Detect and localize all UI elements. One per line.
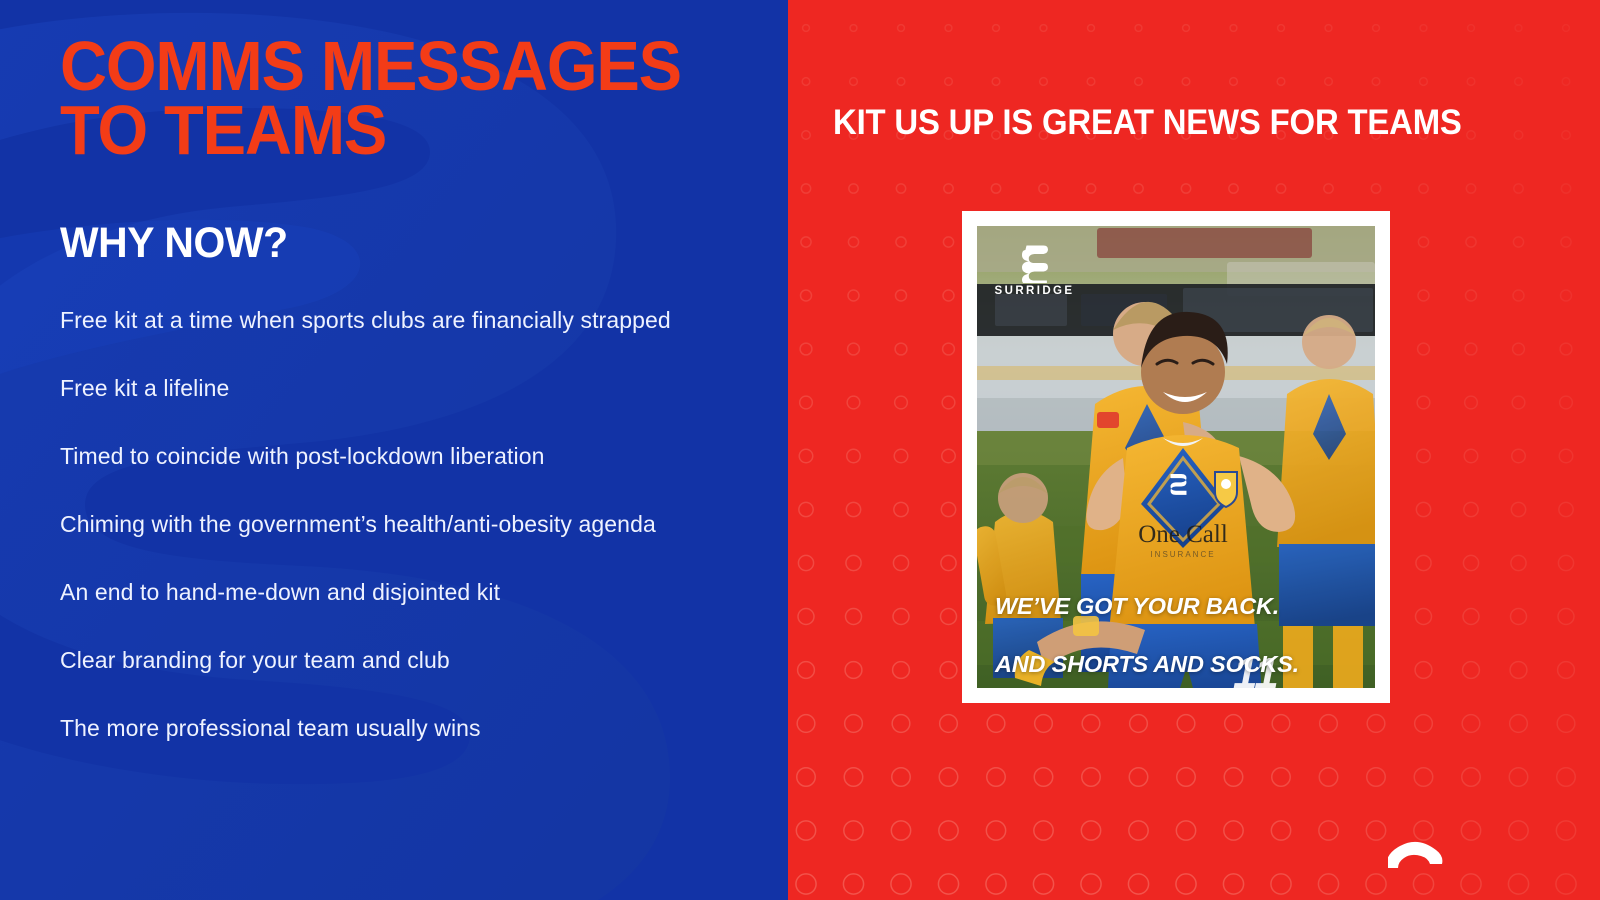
right-red-panel: KIT US UP IS GREAT NEWS FOR TEAMS [788, 0, 1600, 900]
right-panel-title: KIT US UP IS GREAT NEWS FOR TEAMS [833, 103, 1547, 143]
section-heading: WHY NOW? [60, 219, 288, 268]
presentation-slide: COMMS MESSAGES TO TEAMS WHY NOW? Free ki… [0, 0, 1600, 900]
list-item: The more professional team usually wins [60, 711, 780, 779]
photo-caption-line-1: WE’VE GOT YOUR BACK. [995, 593, 1373, 620]
left-blue-panel: COMMS MESSAGES TO TEAMS WHY NOW? Free ki… [0, 0, 788, 900]
list-item: Free kit a lifeline [60, 371, 780, 439]
list-item: An end to hand-me-down and disjointed ki… [60, 575, 780, 643]
left-content-column: COMMS MESSAGES TO TEAMS WHY NOW? Free ki… [60, 0, 760, 900]
surridge-s-monogram-icon [1022, 243, 1048, 283]
svg-text:One Call: One Call [1138, 521, 1228, 548]
corner-surridge-logo-icon [1388, 838, 1446, 900]
surridge-logo: SURRIDGE [987, 234, 1082, 306]
list-item: Chiming with the government’s health/ant… [60, 507, 780, 575]
photo-image: One Call INSURANCE 11 [977, 226, 1375, 688]
list-item: Clear branding for your team and club [60, 643, 780, 711]
list-item: Timed to coincide with post-lockdown lib… [60, 439, 780, 507]
photo-caption-line-2: AND SHORTS AND SOCKS. [995, 651, 1373, 678]
page-title: COMMS MESSAGES TO TEAMS [60, 34, 711, 163]
surridge-wordmark: SURRIDGE [995, 286, 1075, 298]
svg-text:INSURANCE: INSURANCE [1150, 550, 1215, 559]
bullet-list: Free kit at a time when sports clubs are… [60, 303, 780, 779]
photo-card: One Call INSURANCE 11 [962, 211, 1390, 703]
list-item: Free kit at a time when sports clubs are… [60, 303, 780, 371]
